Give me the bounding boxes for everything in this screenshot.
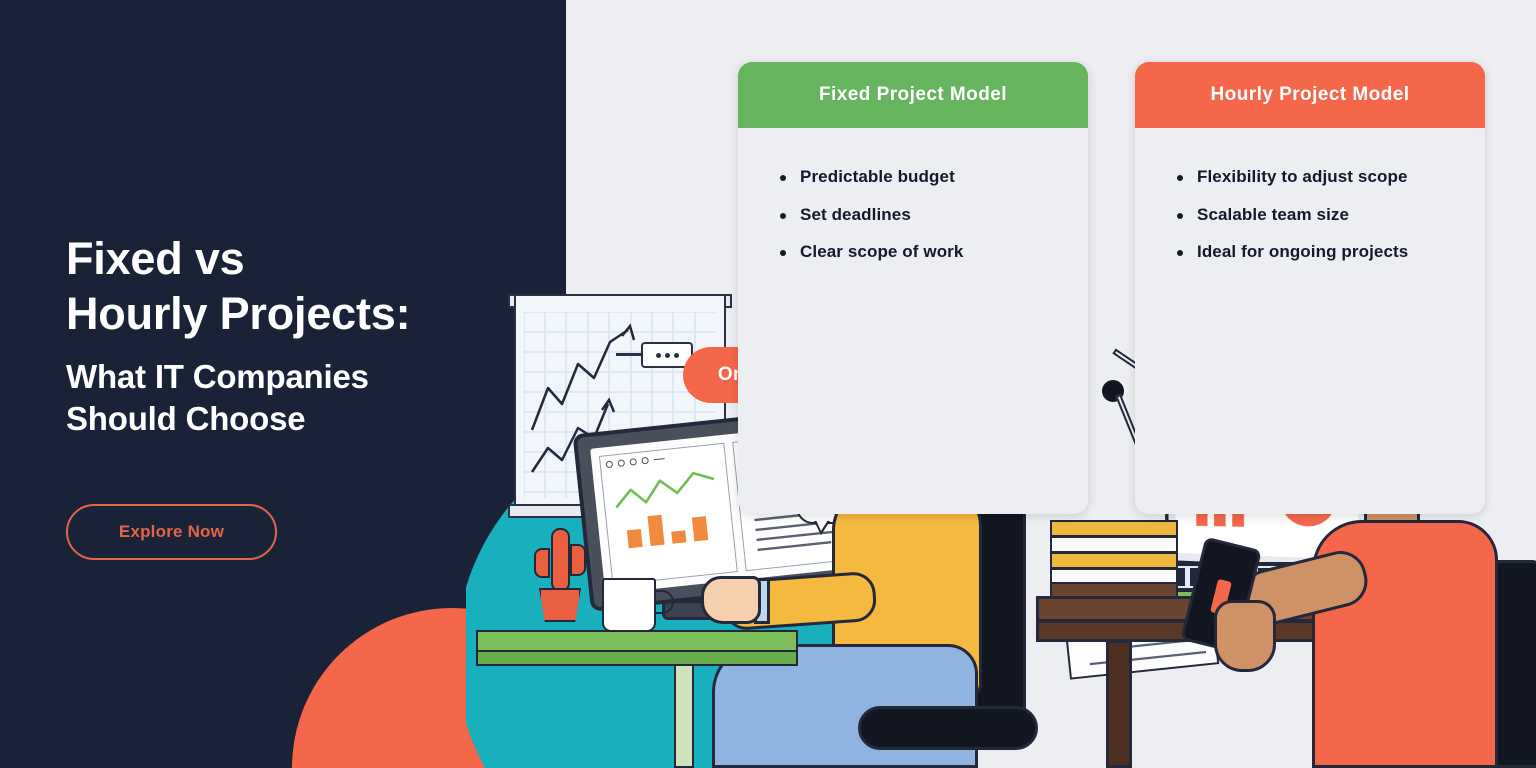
cactus-left-arm — [534, 548, 550, 578]
left-desk-edge — [476, 650, 798, 666]
headline-block: Fixed vs Hourly Projects: What IT Compan… — [66, 232, 486, 440]
hourly-card-benefit-list: Flexibility to adjust scope Scalable tea… — [1135, 128, 1485, 262]
line-and-bar-chart-icon — [607, 462, 729, 555]
left-desk-top — [476, 630, 798, 652]
list-item: Flexibility to adjust scope — [1177, 168, 1485, 187]
page-subtitle: What IT Companies Should Choose — [66, 356, 486, 440]
page-subtitle-line-2: Should Choose — [66, 398, 486, 440]
hourly-card-title: Hourly Project Model — [1210, 84, 1409, 106]
page-title: Fixed vs Hourly Projects: — [66, 232, 486, 342]
left-desk-leg — [674, 664, 694, 768]
whiteboard-callout-stem — [616, 353, 642, 356]
fixed-project-model-card[interactable]: Fixed Project Model Predictable budget S… — [738, 62, 1088, 514]
cactus-right-arm — [570, 544, 586, 576]
explore-now-button[interactable]: Explore Now — [66, 504, 277, 560]
page-title-line-1: Fixed vs — [66, 232, 486, 287]
list-item: Predictable budget — [780, 168, 1088, 187]
hero-banner: On Track! — [0, 0, 1536, 768]
list-item: Ideal for ongoing projects — [1177, 243, 1485, 262]
page-subtitle-line-1: What IT Companies — [66, 356, 486, 398]
page-title-line-2: Hourly Projects: — [66, 287, 486, 342]
monitor-chart-pane — [599, 443, 738, 585]
right-desk-leg — [1106, 640, 1132, 768]
fixed-card-header: Fixed Project Model — [738, 62, 1088, 128]
hourly-card-header: Hourly Project Model — [1135, 62, 1485, 128]
hourly-project-model-card[interactable]: Hourly Project Model Flexibility to adju… — [1135, 62, 1485, 514]
plant-pot — [539, 588, 581, 622]
list-item: Set deadlines — [780, 206, 1088, 225]
stack-of-books — [1050, 520, 1178, 596]
left-office-chair-seat — [858, 706, 1038, 750]
fixed-card-title: Fixed Project Model — [819, 84, 1007, 106]
left-person-hand — [701, 576, 761, 624]
cactus-stem — [551, 528, 570, 592]
list-item: Clear scope of work — [780, 243, 1088, 262]
left-coffee-mug — [602, 578, 656, 632]
small-speech-bubble-2-tail — [814, 521, 830, 535]
right-person-hand — [1214, 600, 1276, 672]
fixed-card-benefit-list: Predictable budget Set deadlines Clear s… — [738, 128, 1088, 262]
list-item: Scalable team size — [1177, 206, 1485, 225]
